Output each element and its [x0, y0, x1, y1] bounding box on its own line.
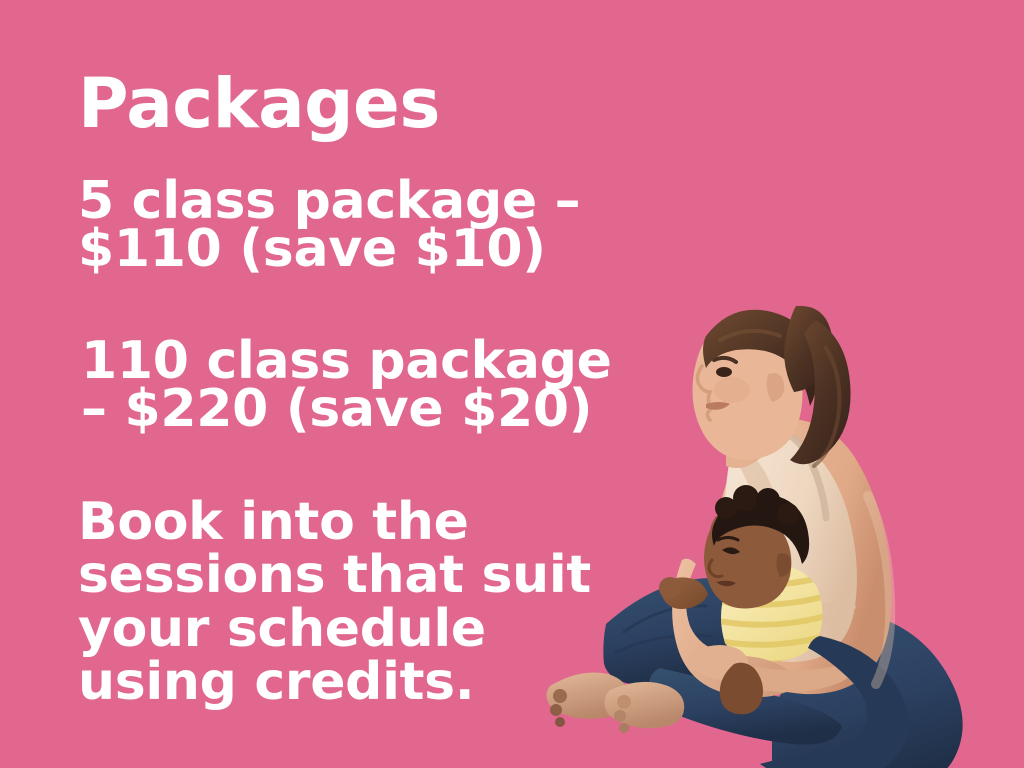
- package-price-line: $110 (save $10): [78, 225, 678, 273]
- instruction-line-2: sessions that suit: [78, 549, 678, 602]
- package-name-line: 5 class package –: [78, 177, 678, 225]
- shape-baby-hair-curl: [777, 503, 799, 525]
- booking-instructions: Book into the sessions that suit your sc…: [78, 496, 678, 709]
- package-name-line: 110 class package: [81, 337, 681, 385]
- shape-eye: [716, 367, 732, 377]
- package-price-line: – $220 (save $20): [81, 385, 681, 433]
- package-item-110-class: 110 class package – $220 (save $20): [81, 337, 681, 434]
- page-title: Packages: [78, 70, 440, 139]
- shape-baby-hair-curl: [789, 523, 807, 541]
- instruction-line-3: your schedule: [78, 603, 678, 656]
- shape-baby-hair-curl: [756, 488, 780, 512]
- shape-cheek: [714, 377, 750, 403]
- instruction-line-1: Book into the: [78, 496, 678, 549]
- instruction-line-4: using credits.: [78, 656, 678, 709]
- shape-baby-hair-curl: [733, 485, 759, 511]
- package-item-5-class: 5 class package – $110 (save $10): [78, 177, 678, 274]
- slide-canvas: Packages 5 class package – $110 (save $1…: [0, 0, 1024, 768]
- text-column: Packages 5 class package – $110 (save $1…: [78, 0, 718, 768]
